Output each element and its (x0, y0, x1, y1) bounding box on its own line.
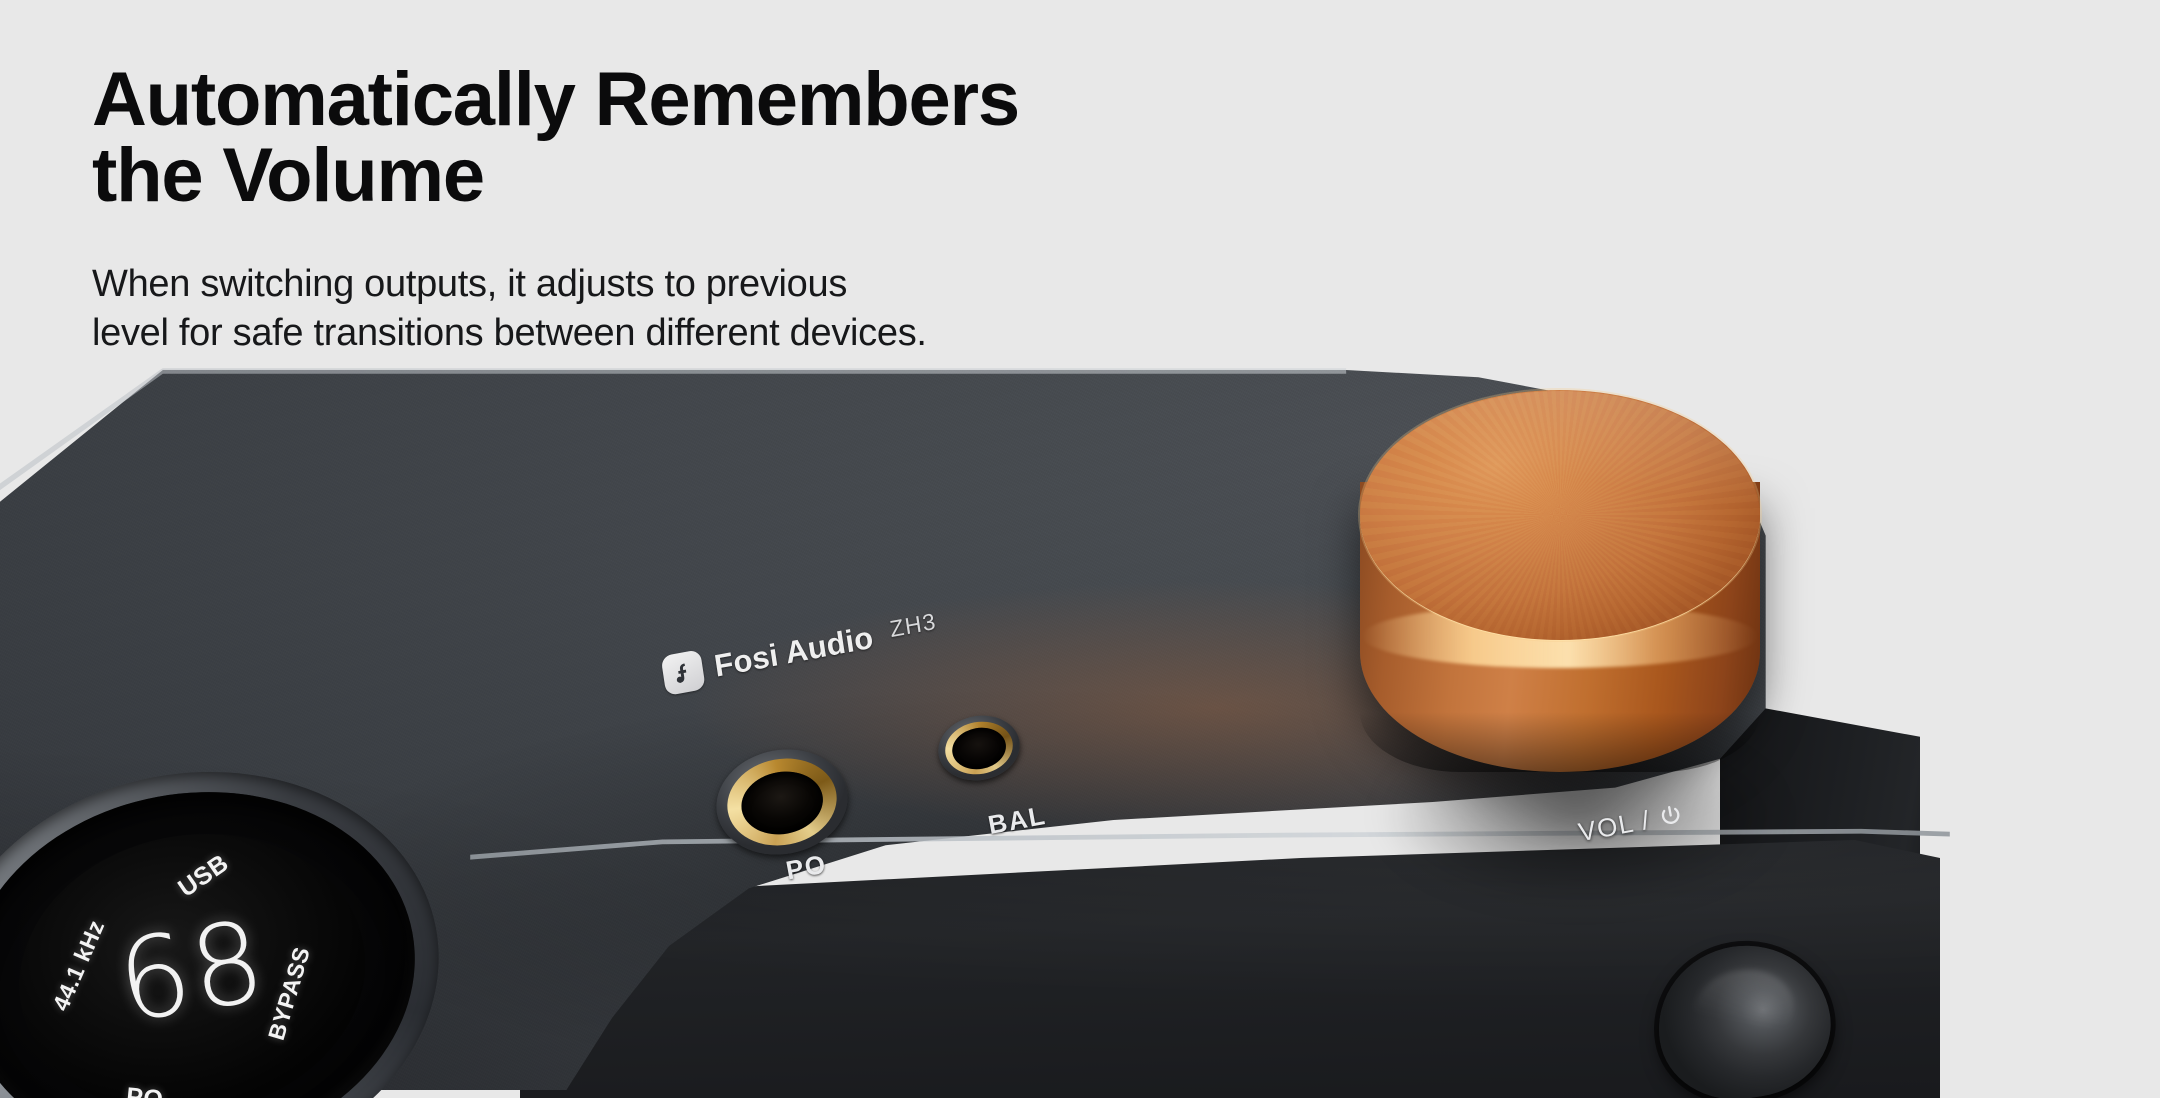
marketing-banner: Automatically Remembers the Volume When … (0, 0, 2160, 1098)
brand-name-label: Fosi Audio (712, 620, 876, 685)
fosi-f-logo-icon (661, 649, 706, 696)
display-screen: 68 44.1 kHz USB PO BYPASS (0, 806, 389, 1098)
page-subtitle: When switching outputs, it adjusts to pr… (92, 260, 1342, 359)
power-icon (1657, 803, 1684, 830)
knob-top-face (1360, 390, 1760, 640)
jack-label-po: PO (784, 849, 830, 887)
output-mode-label: PO (125, 1082, 165, 1098)
model-number-label: ZH3 (888, 607, 938, 642)
input-source-label: USB (173, 849, 234, 904)
page-title: Automatically Remembers the Volume (92, 62, 1342, 214)
volume-knob[interactable] (1360, 390, 1780, 800)
copy-block: Automatically Remembers the Volume When … (92, 62, 1342, 359)
